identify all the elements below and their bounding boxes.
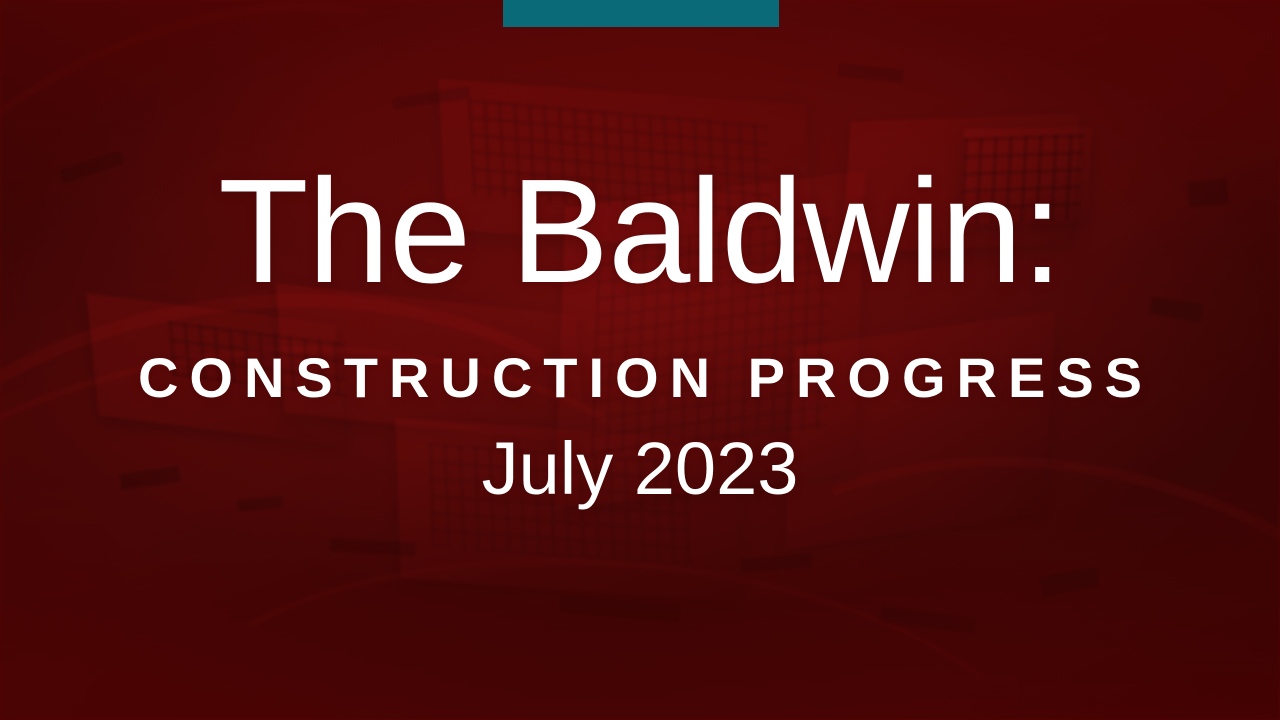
slide-content: The Baldwin: CONSTRUCTION PROGRESS July … bbox=[0, 0, 1280, 720]
slide-date: July 2023 bbox=[482, 432, 799, 506]
slide-subtitle: CONSTRUCTION PROGRESS bbox=[127, 350, 1153, 406]
slide-title: The Baldwin: bbox=[218, 158, 1062, 306]
presentation-slide: The Baldwin: CONSTRUCTION PROGRESS July … bbox=[0, 0, 1280, 720]
